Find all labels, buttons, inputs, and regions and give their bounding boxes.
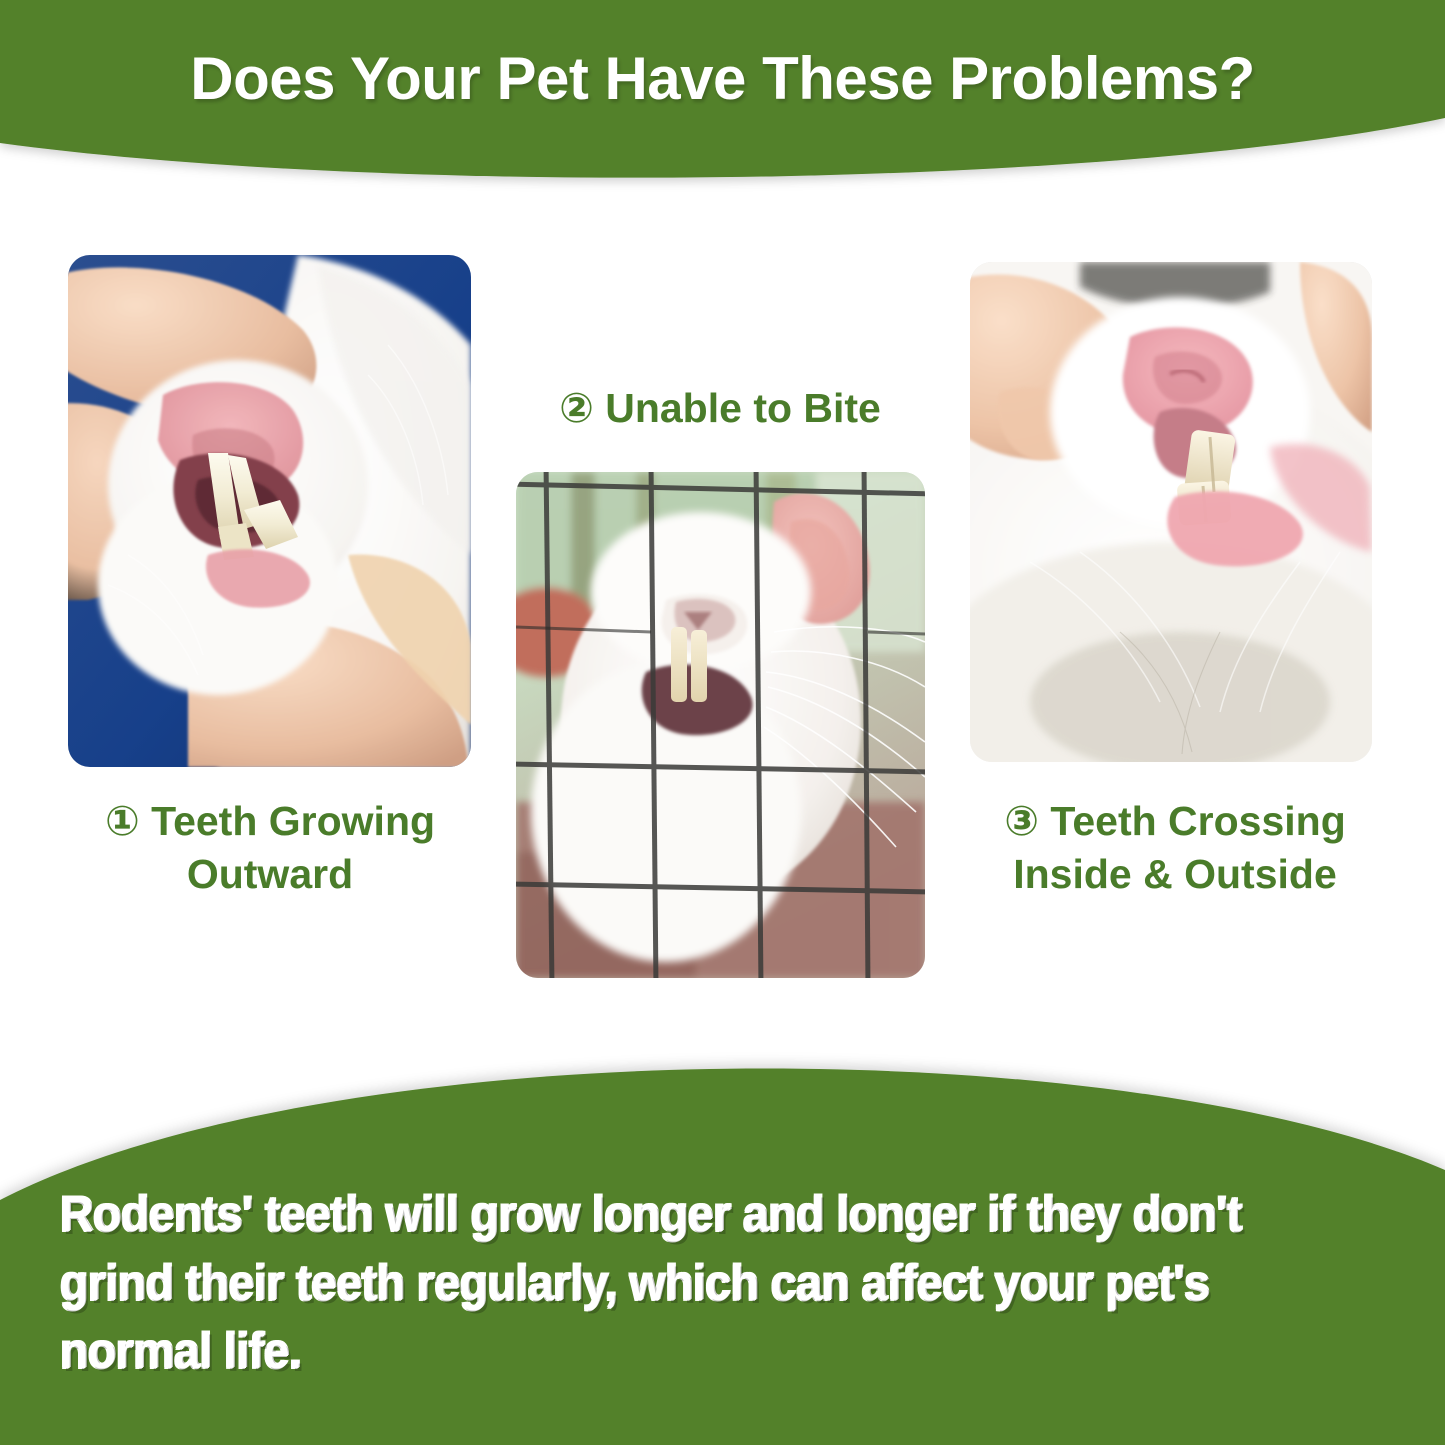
rabbit-teeth-crossing-illustration (970, 262, 1372, 762)
rabbit-teeth-outward-illustration (68, 255, 471, 767)
problem-photo-2 (516, 472, 925, 978)
caption-1-line-1: ① Teeth Growing (105, 798, 435, 844)
caption-problem-1: ① Teeth Growing Outward (40, 795, 500, 902)
header-banner: Does Your Pet Have These Problems? (0, 0, 1445, 200)
infographic-page: Does Your Pet Have These Problems? (0, 0, 1445, 1445)
problem-photo-3 (970, 262, 1372, 762)
footer-message: Rodents' teeth will grow longer and long… (60, 1180, 1250, 1386)
rabbit-in-cage-illustration (516, 472, 925, 978)
caption-3-line-1: ③ Teeth Crossing (1004, 798, 1346, 844)
caption-problem-3: ③ Teeth Crossing Inside & Outside (940, 795, 1410, 902)
problem-photo-1 (68, 255, 471, 767)
caption-problem-2: ② Unable to Bite (500, 382, 940, 435)
page-title: Does Your Pet Have These Problems? (0, 44, 1445, 113)
caption-1-line-2: Outward (187, 851, 353, 897)
caption-2-line-1: ② Unable to Bite (559, 385, 881, 431)
caption-3-line-2: Inside & Outside (1013, 851, 1337, 897)
